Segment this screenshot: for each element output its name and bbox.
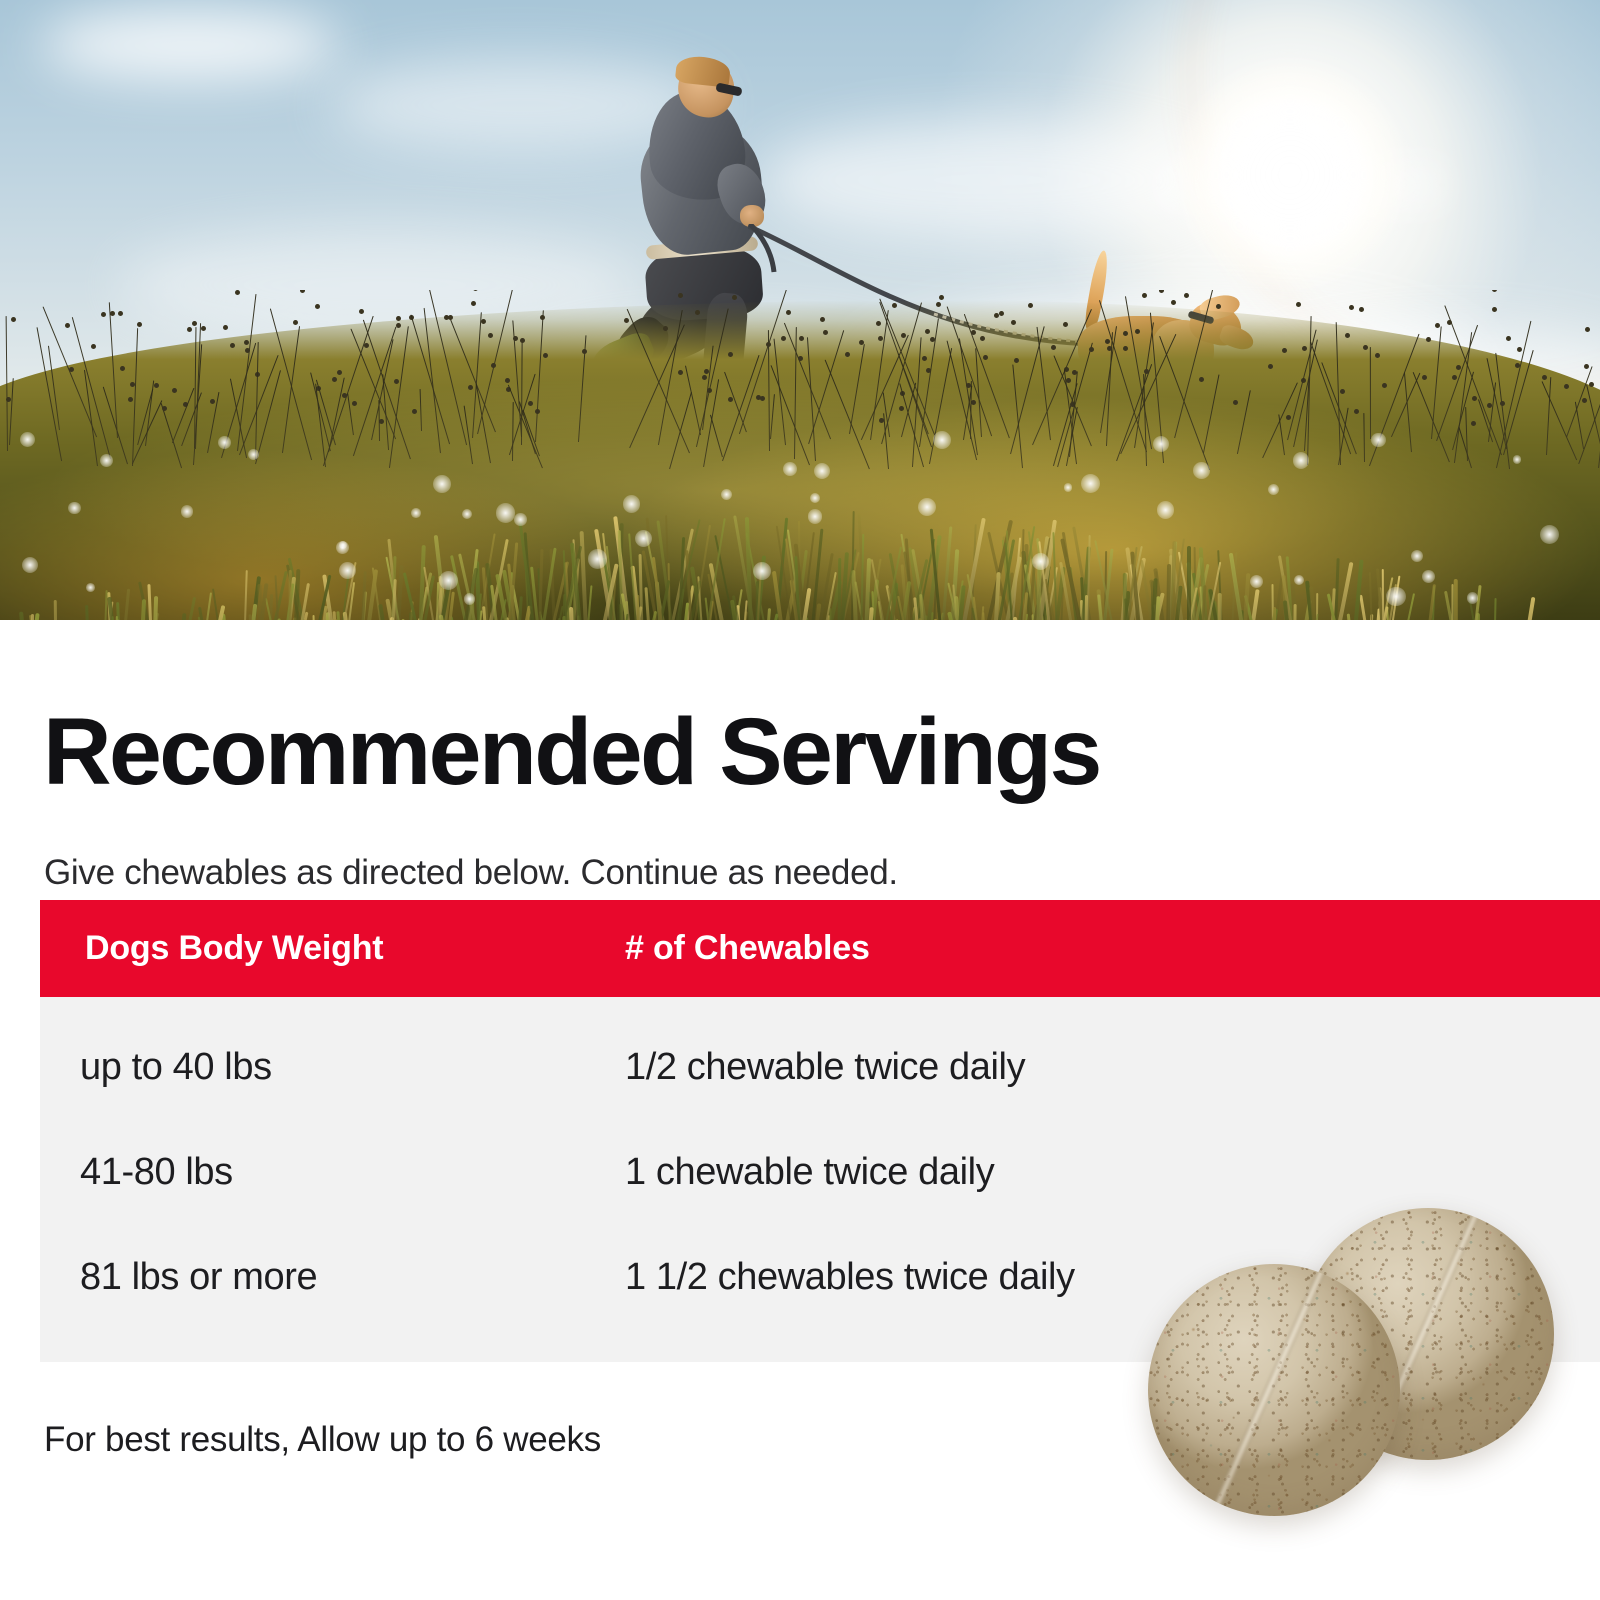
seed-head — [1302, 346, 1307, 351]
seed-head — [359, 309, 364, 314]
seed-head — [1268, 364, 1273, 369]
grass-blade — [133, 599, 146, 620]
dandelion-puff — [514, 513, 527, 526]
dandelion-puff — [783, 462, 797, 476]
instruction-text: Give chewables as directed below. Contin… — [44, 853, 898, 893]
seed-stalk — [429, 290, 467, 445]
seed-head — [491, 363, 496, 368]
sun-glow — [1180, 65, 1400, 285]
seed-head — [760, 396, 765, 401]
dandelion-puff — [464, 593, 475, 604]
seed-head — [678, 370, 683, 375]
seed-stalk — [160, 403, 182, 468]
seed-head — [235, 290, 240, 295]
seed-stalk — [771, 365, 811, 465]
dandelion-puff — [753, 562, 771, 580]
dandelion-puff — [1371, 433, 1385, 447]
seed-stalk — [419, 389, 422, 431]
seed-head — [1517, 347, 1522, 352]
seed-head — [1089, 347, 1094, 352]
seed-head — [922, 356, 927, 361]
seed-head — [1349, 305, 1354, 310]
seed-head — [980, 336, 985, 341]
seed-head — [1487, 403, 1492, 408]
dandelion-puff — [100, 454, 113, 467]
dandelion-puff — [339, 541, 347, 549]
seed-head — [520, 338, 525, 343]
grass-blade — [288, 570, 292, 620]
hero-photo — [0, 0, 1600, 620]
seed-stalk — [1403, 373, 1411, 453]
seed-stalk — [710, 415, 723, 458]
seed-head — [1363, 345, 1368, 350]
seed-stalk — [1237, 390, 1251, 454]
seed-stalk — [347, 393, 354, 435]
cloud-1 — [40, 10, 340, 80]
footnote-text: For best results, Allow up to 6 weeks — [44, 1420, 601, 1460]
seed-head — [1296, 302, 1301, 307]
dandelion-puff — [181, 505, 194, 518]
seed-head — [728, 352, 733, 357]
dandelion-puff — [218, 436, 231, 449]
seed-stalk — [1203, 374, 1220, 453]
tablet-front — [1148, 1264, 1400, 1516]
seed-head — [1472, 396, 1477, 401]
seed-head — [1233, 400, 1238, 405]
seed-head — [342, 393, 347, 398]
seed-head — [732, 295, 737, 300]
seed-head — [481, 319, 486, 324]
dandelion-puff — [1268, 484, 1279, 495]
table-row: up to 40 lbs 1/2 chewable twice daily — [40, 1015, 1600, 1120]
seed-head — [1564, 384, 1569, 389]
dandelion-puff — [933, 431, 951, 449]
seed-head — [1447, 320, 1452, 325]
seed-head — [110, 311, 115, 316]
seed-stalk — [255, 370, 281, 464]
cell-weight: 81 lbs or more — [40, 1256, 625, 1299]
dandelion-puff — [439, 571, 458, 590]
seed-head — [337, 370, 342, 375]
grass-blade — [99, 590, 108, 620]
seed-head — [1582, 398, 1587, 403]
seed-head — [91, 344, 96, 349]
seed-head — [101, 312, 106, 317]
dandelion-puff — [1064, 483, 1073, 492]
seed-head — [412, 409, 417, 414]
seed-stalk — [1444, 305, 1502, 455]
seed-head — [448, 315, 453, 320]
seed-head — [230, 343, 235, 348]
seed-head — [1184, 293, 1189, 298]
seed-stalk — [535, 310, 544, 442]
chewable-tablets-image — [1140, 1208, 1570, 1548]
seed-head — [473, 290, 478, 291]
seed-head — [1014, 358, 1019, 363]
seed-head — [201, 326, 206, 331]
seed-head — [1142, 293, 1147, 298]
dandelion-puff — [411, 508, 421, 518]
seed-stalk — [1278, 414, 1285, 455]
dandelion-puff — [496, 503, 516, 523]
seed-head — [823, 330, 828, 335]
seed-head — [69, 367, 74, 372]
dandelion-puff — [1157, 501, 1175, 519]
dandelion-puff — [1386, 587, 1406, 607]
seed-head — [704, 369, 709, 374]
seed-stalk — [1578, 343, 1600, 465]
seed-head — [1422, 375, 1427, 380]
seed-head — [192, 321, 197, 326]
seed-stalk — [824, 359, 870, 469]
seed-head — [379, 419, 384, 424]
seed-head — [1105, 339, 1110, 344]
column-header-weight: Dogs Body Weight — [40, 929, 625, 968]
seed-head — [528, 401, 533, 406]
seed-head — [971, 400, 976, 405]
seed-head — [223, 325, 228, 330]
dandelion-puff — [918, 498, 936, 516]
seed-stalk — [849, 344, 865, 434]
dandelion-puff — [814, 463, 830, 479]
seed-head — [1123, 346, 1128, 351]
seed-stalk — [239, 355, 279, 455]
seed-head — [879, 418, 884, 423]
grass-blade — [1451, 584, 1453, 620]
seed-head — [1159, 290, 1164, 293]
seed-head — [1063, 322, 1068, 327]
seed-head — [1585, 327, 1590, 332]
seed-head — [1354, 409, 1359, 414]
seed-head — [1589, 382, 1594, 387]
seed-stalk — [323, 316, 374, 466]
seed-head — [471, 301, 476, 306]
dandelion-puff — [1513, 455, 1521, 463]
seed-head — [925, 329, 930, 334]
seed-head — [540, 315, 545, 320]
seed-head — [1107, 346, 1112, 351]
seed-head — [624, 318, 629, 323]
dandelion-puff — [1193, 462, 1210, 479]
dandelion-puff — [86, 583, 95, 592]
seed-stalk — [970, 381, 972, 439]
grass-blade — [240, 570, 248, 620]
seed-head — [936, 302, 941, 307]
grass-blade — [161, 596, 196, 620]
seed-head — [728, 397, 733, 402]
seed-head — [1584, 364, 1589, 369]
seed-stalk — [411, 314, 451, 443]
seed-head — [1199, 377, 1204, 382]
dandelion-puff — [1422, 570, 1435, 583]
seed-stalk — [1496, 320, 1532, 467]
seed-stalk — [5, 316, 8, 451]
seed-head — [172, 388, 177, 393]
seed-head — [1375, 353, 1380, 358]
seed-stalk — [1012, 365, 1023, 469]
seed-head — [1471, 421, 1476, 426]
seed-head — [820, 317, 825, 322]
seed-head — [543, 353, 548, 358]
seed-head — [1359, 307, 1364, 312]
seed-head — [300, 290, 305, 293]
dandelion-puff — [721, 489, 732, 500]
seed-head — [154, 383, 159, 388]
seed-head — [1492, 307, 1497, 312]
seed-head — [1135, 329, 1140, 334]
dandelion-puff — [1153, 436, 1169, 452]
seed-head — [1028, 303, 1033, 308]
seed-head — [766, 342, 771, 347]
seed-head — [971, 330, 976, 335]
seed-head — [315, 304, 320, 309]
column-header-chewables: # of Chewables — [625, 929, 870, 968]
dandelion-puff — [1250, 575, 1263, 588]
seed-stalk — [770, 394, 775, 439]
seed-head — [1340, 389, 1345, 394]
seed-stalk — [477, 290, 516, 434]
seed-head — [899, 406, 904, 411]
seed-head — [293, 320, 298, 325]
cell-servings: 1 1/2 chewables twice daily — [625, 1256, 1075, 1299]
seed-head — [702, 375, 707, 380]
cell-weight: up to 40 lbs — [40, 1046, 625, 1089]
dandelion-puff — [623, 495, 640, 512]
seed-stalk — [310, 372, 331, 451]
seed-stalk — [794, 327, 797, 459]
seed-head — [513, 336, 518, 341]
seed-head — [1286, 415, 1291, 420]
seed-head — [1382, 383, 1387, 388]
seed-head — [939, 295, 944, 300]
seed-head — [1051, 345, 1056, 350]
dandelion-puff — [433, 475, 451, 493]
seed-stalk — [181, 392, 202, 446]
seed-head — [1500, 401, 1505, 406]
seed-head — [799, 336, 804, 341]
seed-head — [1216, 304, 1221, 309]
seed-stalk — [512, 402, 514, 461]
seed-head — [187, 327, 192, 332]
seed-head — [1492, 290, 1497, 292]
grass-blade — [837, 558, 841, 620]
grass-blade — [1273, 607, 1276, 620]
dandelion-puff — [462, 509, 473, 520]
seed-stalk — [1174, 290, 1214, 439]
grass-blade — [973, 597, 987, 620]
seed-head — [798, 356, 803, 361]
seed-head — [210, 399, 215, 404]
grass-blade — [173, 613, 187, 620]
dandelion-puff — [1032, 553, 1049, 570]
grass-blade — [1165, 564, 1171, 620]
grass-blades — [0, 290, 1600, 620]
tablet-score-line — [1148, 1264, 1400, 1516]
dandelion-puff — [1540, 525, 1560, 545]
seed-head — [394, 379, 399, 384]
seed-head — [137, 322, 142, 327]
seed-stalk — [629, 325, 685, 449]
seed-head — [128, 397, 133, 402]
seed-head — [1542, 375, 1547, 380]
grass-blade — [1491, 598, 1497, 620]
seed-head — [663, 326, 668, 331]
cell-weight: 41-80 lbs — [40, 1151, 625, 1194]
cell-servings: 1 chewable twice daily — [625, 1151, 994, 1194]
seed-stalk — [1363, 413, 1365, 462]
seed-head — [926, 368, 931, 373]
dandelion-puff — [22, 557, 38, 573]
seed-head — [352, 401, 357, 406]
seed-head — [786, 310, 791, 315]
dandelion-puff — [68, 502, 80, 514]
seed-head — [162, 406, 167, 411]
seed-head — [488, 333, 493, 338]
seed-head — [999, 311, 1004, 316]
seed-stalk — [523, 409, 541, 456]
seed-head — [505, 378, 510, 383]
seed-head — [876, 321, 881, 326]
seed-stalk — [172, 387, 195, 442]
grass-blade — [85, 605, 94, 620]
dandelion-puff — [810, 493, 820, 503]
seed-head — [892, 303, 897, 308]
seed-head — [468, 385, 473, 390]
grass-blade — [356, 572, 367, 620]
dandelion-puff — [808, 509, 823, 524]
seed-head — [118, 311, 123, 316]
seed-head — [1066, 378, 1071, 383]
seed-head — [1345, 333, 1350, 338]
seed-stalk — [132, 328, 139, 466]
seed-head — [1282, 348, 1287, 353]
seed-head — [396, 323, 401, 328]
seed-stalk — [476, 383, 492, 463]
seed-stalk — [1370, 347, 1372, 439]
grass-blade — [619, 604, 622, 620]
seed-head — [695, 310, 700, 315]
seed-head — [364, 343, 369, 348]
seed-head — [1011, 320, 1016, 325]
seed-head — [582, 349, 587, 354]
seed-stalk — [722, 355, 760, 461]
grass-blade — [237, 604, 257, 620]
seed-stalk — [1310, 342, 1351, 454]
grass-blade — [1217, 593, 1222, 620]
seed-head — [1506, 336, 1511, 341]
grass-blade — [1454, 579, 1458, 620]
seed-stalk — [696, 309, 729, 447]
seed-head — [1426, 337, 1431, 342]
seed-head — [1123, 331, 1128, 336]
seed-stalk — [669, 392, 692, 470]
grass-blade — [54, 600, 59, 620]
grass-blade — [1504, 597, 1536, 620]
dandelion-puff — [1294, 575, 1304, 585]
seed-head — [130, 382, 135, 387]
cell-servings: 1/2 chewable twice daily — [625, 1046, 1025, 1089]
seed-head — [396, 316, 401, 321]
seed-head — [332, 377, 337, 382]
seed-head — [1435, 323, 1440, 328]
dandelion-puff — [339, 562, 356, 579]
seed-stalk — [9, 378, 14, 445]
seed-head — [65, 323, 70, 328]
seed-stalk — [84, 370, 98, 467]
seed-stalk — [282, 327, 300, 454]
dandelion-puff — [248, 449, 259, 460]
seed-head — [1171, 300, 1176, 305]
dandelion-puff — [1081, 474, 1100, 493]
table-header-row: Dogs Body Weight # of Chewables — [40, 900, 1600, 997]
seed-head — [678, 293, 683, 298]
dandelion-puff — [1411, 550, 1423, 562]
dandelion-puff — [1293, 452, 1309, 468]
dandelion-puff — [20, 432, 35, 447]
grass-blade — [110, 589, 130, 620]
page-title: Recommended Servings — [43, 705, 1100, 800]
seed-stalk — [1546, 377, 1552, 455]
seed-head — [120, 366, 125, 371]
seed-head — [983, 355, 988, 360]
seed-head — [781, 336, 786, 341]
seed-head — [845, 352, 850, 357]
grass-blade — [1413, 584, 1436, 620]
grass-blade — [1187, 546, 1191, 620]
seed-head — [11, 317, 16, 322]
dandelion-puff — [1467, 592, 1478, 603]
